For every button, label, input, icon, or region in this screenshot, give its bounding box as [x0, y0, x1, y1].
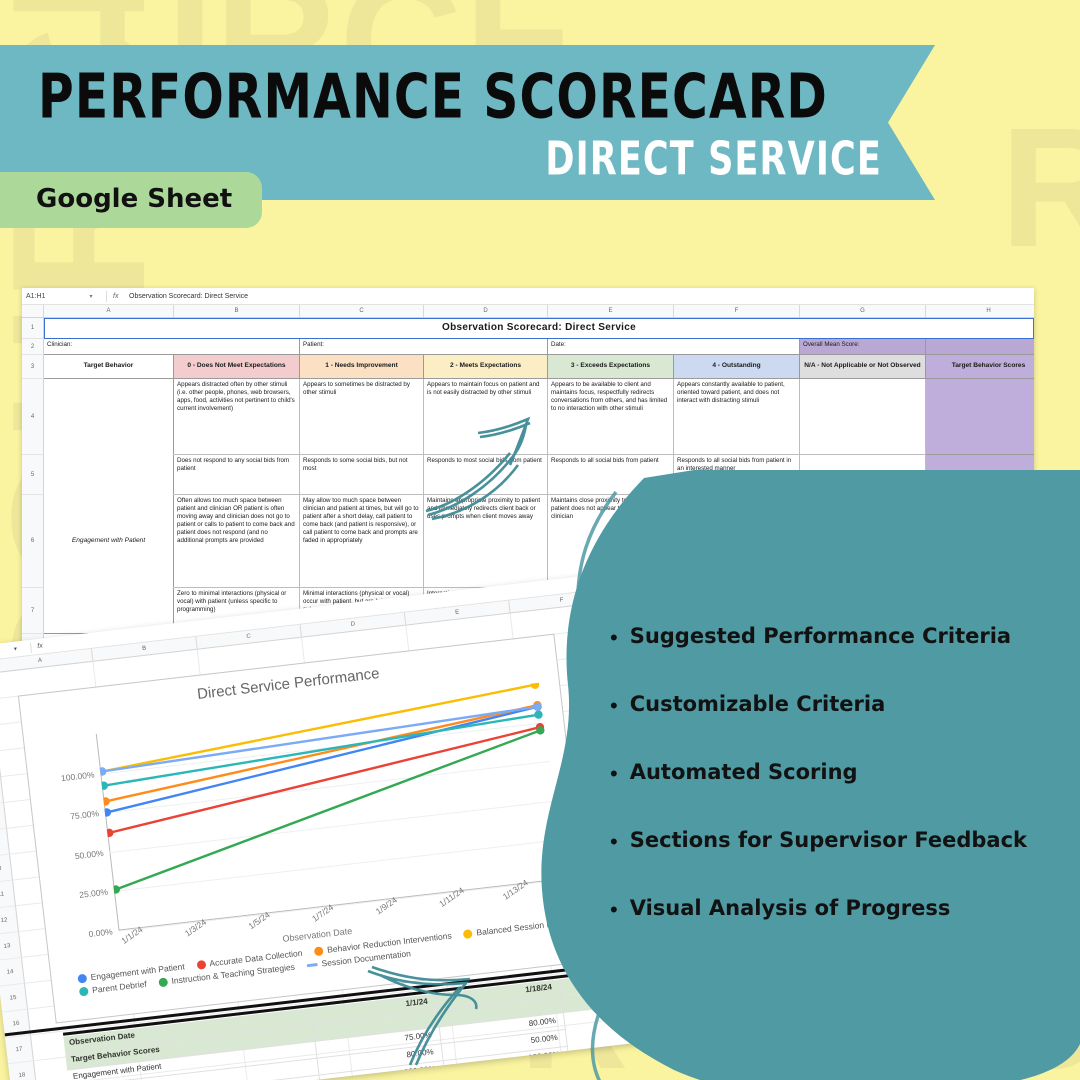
- feature-label: Visual Analysis of Progress: [630, 897, 951, 920]
- feature-label: Sections for Supervisor Feedback: [630, 829, 1027, 852]
- performance-line-chart[interactable]: Direct Service Performance 0.00%25.00%50…: [18, 634, 592, 1024]
- legend-marker-icon: [463, 929, 473, 939]
- column-header-b[interactable]: B: [174, 305, 300, 317]
- row-number[interactable]: 14: [0, 958, 25, 987]
- behavior-label-spacer[interactable]: [44, 379, 174, 455]
- y-axis-tick: 100.00%: [60, 769, 94, 783]
- cell-r4-c1[interactable]: Appears to sometimes be distracted by ot…: [300, 379, 424, 455]
- header-na[interactable]: N/A - Not Applicable or Not Observed: [800, 355, 926, 379]
- chart-line: [101, 715, 540, 786]
- header-level-0[interactable]: 0 - Does Not Meet Expectations: [174, 355, 300, 379]
- name-box[interactable]: A1:H1: [26, 293, 82, 300]
- y-axis-tick: 75.00%: [70, 808, 100, 821]
- doodle-stroke-2: [593, 1010, 601, 1080]
- behavior-label-spacer-2[interactable]: [44, 455, 174, 495]
- feature-list-item: •Sections for Supervisor Feedback: [610, 829, 1080, 853]
- feature-label: Automated Scoring: [630, 761, 858, 784]
- column-header-f[interactable]: F: [674, 305, 800, 317]
- column-header-g[interactable]: G: [800, 305, 926, 317]
- header-target-behavior-scores[interactable]: Target Behavior Scores: [926, 355, 1034, 379]
- divider: [106, 291, 107, 302]
- y-axis-tick: 0.00%: [88, 926, 113, 939]
- chart-line: [103, 730, 553, 889]
- feature-list-item: •Suggested Performance Criteria: [610, 625, 1080, 649]
- chart-data-point: [111, 885, 120, 894]
- row-number-1[interactable]: 1: [22, 318, 44, 339]
- row-number-3[interactable]: 3: [22, 355, 44, 379]
- header-target-behavior[interactable]: Target Behavior: [44, 355, 174, 379]
- column-header-a[interactable]: A: [44, 305, 174, 317]
- cell-r4-c0[interactable]: Appears distracted often by other stimul…: [174, 379, 300, 455]
- sheet-row-2: 2 Clinician: Patient: Date: Overall Mean…: [22, 339, 1034, 355]
- column-headers: A B C D E F G H: [22, 305, 1034, 318]
- header-level-2[interactable]: 2 - Meets Expectations: [424, 355, 548, 379]
- row-number[interactable]: 15: [0, 984, 28, 1013]
- chart-data-point: [105, 828, 114, 837]
- cell-r4-score[interactable]: [926, 379, 1034, 455]
- feature-label: Suggested Performance Criteria: [630, 625, 1011, 648]
- page-title: PERFORMANCE SCORECARD: [38, 62, 828, 133]
- legend-marker-icon: [158, 977, 168, 987]
- clinician-cell[interactable]: Clinician:: [44, 339, 300, 355]
- patient-cell[interactable]: Patient:: [300, 339, 548, 355]
- format-badge: Google Sheet: [0, 172, 262, 228]
- y-axis-tick: 25.00%: [79, 887, 109, 900]
- sheet-row-4: 4 Appears distracted often by other stim…: [22, 379, 1034, 455]
- column-header-d[interactable]: D: [424, 305, 548, 317]
- cell-r4-c4[interactable]: Appears constantly available to patient,…: [674, 379, 800, 455]
- chart-data-point: [101, 797, 110, 806]
- chart-line: [100, 707, 539, 772]
- cell-r5-c0[interactable]: Does not respond to any social bids from…: [174, 455, 300, 495]
- legend-marker-icon: [77, 973, 87, 983]
- cell-r5-c1[interactable]: Responds to some social bids, but not mo…: [300, 455, 424, 495]
- scorecard-title-cell[interactable]: Observation Scorecard: Direct Service: [44, 318, 1034, 339]
- row-number-6[interactable]: 6: [22, 495, 44, 588]
- row-number-7[interactable]: 7: [22, 588, 44, 634]
- chart-data-point: [97, 767, 106, 776]
- chart-series-layer: [96, 682, 564, 930]
- row-number-5[interactable]: 5: [22, 455, 44, 495]
- cell-r4-c3[interactable]: Appears to be available to client and ma…: [548, 379, 674, 455]
- overall-mean-value-cell[interactable]: 0%: [926, 339, 1034, 355]
- feature-list-item: •Customizable Criteria: [610, 693, 1080, 717]
- legend-marker-icon: [307, 963, 318, 967]
- legend-marker-icon: [314, 946, 324, 956]
- watermark-text-2: RB: [1000, 90, 1080, 286]
- chart-plot-area: 0.00%25.00%50.00%75.00%100.00%1/1/241/3/…: [96, 682, 564, 930]
- row-number[interactable]: 18: [8, 1061, 37, 1080]
- row-number[interactable]: 17: [5, 1035, 34, 1064]
- column-header-c[interactable]: C: [300, 305, 424, 317]
- formula-bar[interactable]: A1:H1 ▾ fx Observation Scorecard: Direct…: [22, 288, 1034, 305]
- fx-icon-2: fx: [37, 642, 43, 650]
- bullet-icon: •: [610, 763, 618, 785]
- sheet-row-3: 3 Target Behavior 0 - Does Not Meet Expe…: [22, 355, 1034, 379]
- header-level-4[interactable]: 4 - Outstanding: [674, 355, 800, 379]
- format-badge-label: Google Sheet: [36, 184, 232, 214]
- legend-marker-icon: [79, 986, 89, 996]
- bullet-icon: •: [610, 899, 618, 921]
- divider-2: [30, 642, 32, 652]
- header-level-3[interactable]: 3 - Exceeds Expectations: [548, 355, 674, 379]
- row-number-4[interactable]: 4: [22, 379, 44, 455]
- header-level-1[interactable]: 1 - Needs Improvement: [300, 355, 424, 379]
- cell-r6-c0[interactable]: Often allows too much space between pati…: [174, 495, 300, 588]
- date-cell[interactable]: Date:: [548, 339, 800, 355]
- chevron-down-icon[interactable]: ▾: [82, 293, 100, 300]
- chevron-down-icon-2[interactable]: ▾: [6, 645, 25, 654]
- sheet-row-1: 1 Observation Scorecard: Direct Service: [22, 318, 1034, 339]
- chart-data-point: [99, 781, 108, 790]
- formula-content[interactable]: Observation Scorecard: Direct Service: [129, 293, 248, 300]
- feature-list-item: •Automated Scoring: [610, 761, 1080, 785]
- column-header-e[interactable]: E: [548, 305, 674, 317]
- corner-cell[interactable]: [22, 305, 44, 317]
- y-axis-tick: 50.00%: [74, 848, 104, 861]
- cell-r4-c2[interactable]: Appears to maintain focus on patient and…: [424, 379, 548, 455]
- page-subtitle: DIRECT SERVICE: [546, 133, 882, 186]
- bullet-icon: •: [610, 627, 618, 649]
- legend-label: Parent Debrief: [92, 979, 148, 995]
- feature-list-item: •Visual Analysis of Progress: [610, 897, 1080, 921]
- target-behavior-name[interactable]: Engagement with Patient: [44, 495, 174, 588]
- chart-line: [103, 727, 546, 833]
- bullet-icon: •: [610, 695, 618, 717]
- fx-icon: fx: [113, 293, 129, 300]
- bullet-icon: •: [610, 831, 618, 853]
- legend-marker-icon: [196, 959, 206, 969]
- cell-r6-c1[interactable]: May allow too much space between clinici…: [300, 495, 424, 588]
- row-number-2[interactable]: 2: [22, 339, 44, 355]
- feature-label: Customizable Criteria: [630, 693, 886, 716]
- chart-data-point: [102, 808, 111, 817]
- overall-mean-label-cell[interactable]: Overall Mean Score:: [800, 339, 926, 355]
- cell-r4-na[interactable]: [800, 379, 926, 455]
- column-header-h[interactable]: H: [926, 305, 1034, 317]
- feature-list: •Suggested Performance Criteria•Customiz…: [610, 625, 1080, 965]
